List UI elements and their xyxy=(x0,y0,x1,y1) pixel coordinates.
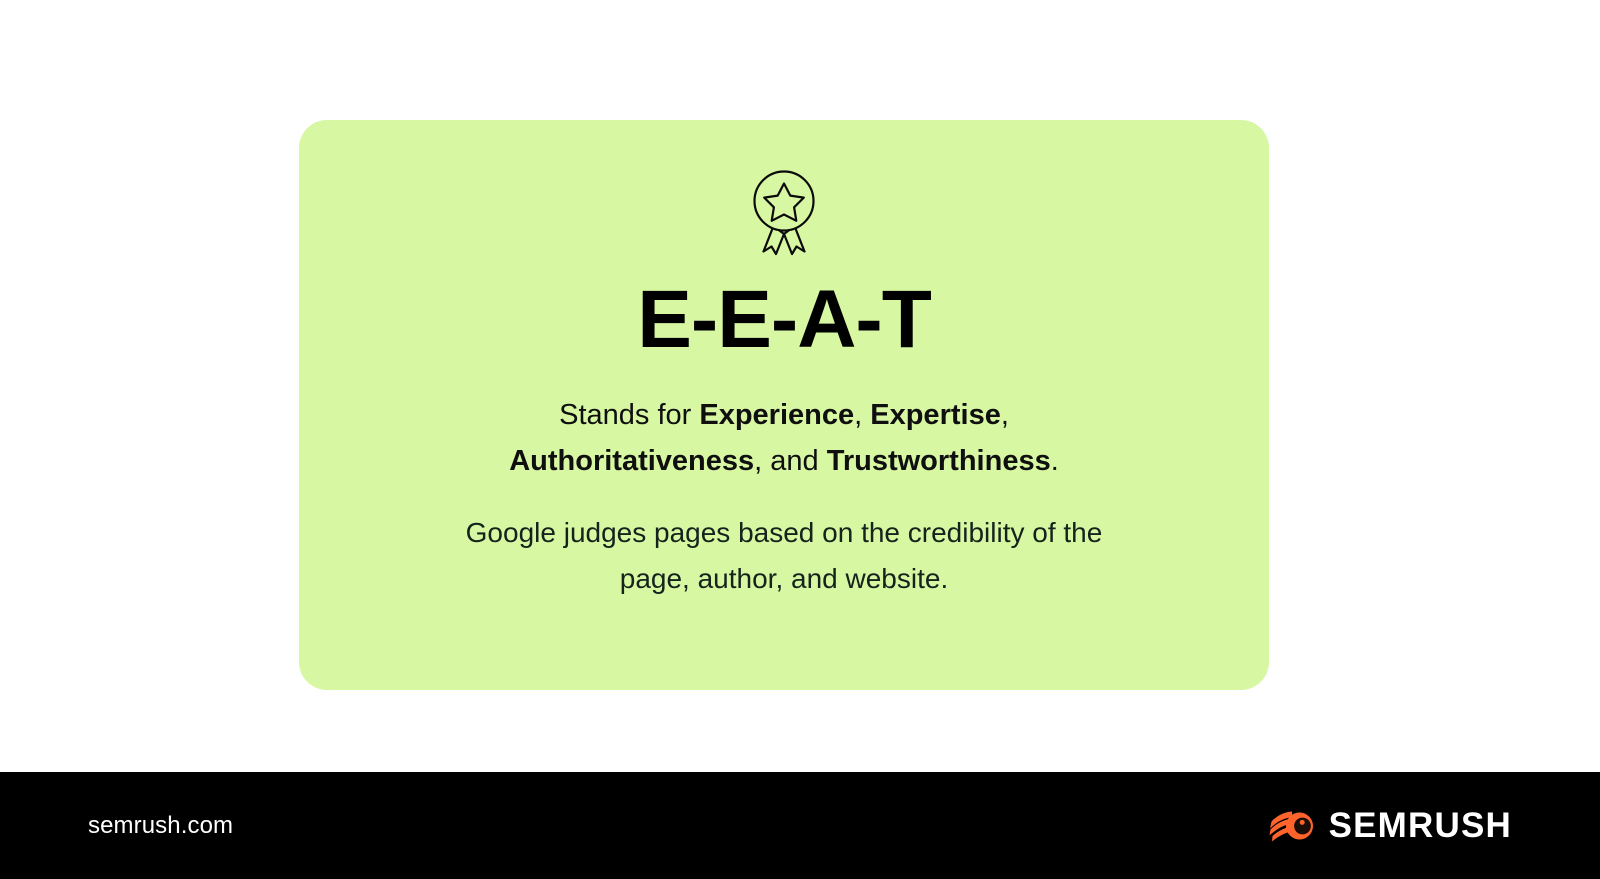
eeat-card: E-E-A-T Stands for Experience, Expertise… xyxy=(299,120,1269,690)
eeat-definition-text: Stands for Experience, Expertise, Author… xyxy=(434,392,1134,485)
page-title: E-E-A-T xyxy=(299,278,1269,362)
lead-prefix: Stands for xyxy=(559,399,699,431)
lead-sep-2: , xyxy=(1001,399,1009,431)
footer-bar: semrush.com SEMRUSH xyxy=(0,772,1600,879)
lead-sep-3: , and xyxy=(754,445,827,477)
semrush-comet-icon xyxy=(1269,809,1315,843)
term-expertise: Expertise xyxy=(870,399,1001,431)
lead-suffix: . xyxy=(1051,445,1059,477)
term-authoritativeness: Authoritativeness xyxy=(509,445,754,477)
semrush-logo: SEMRUSH xyxy=(1269,808,1512,843)
footer-url: semrush.com xyxy=(88,812,233,840)
eeat-description-text: Google judges pages based on the credibi… xyxy=(434,510,1134,601)
semrush-wordmark: SEMRUSH xyxy=(1329,808,1512,843)
term-experience: Experience xyxy=(699,399,854,431)
term-trustworthiness: Trustworthiness xyxy=(827,445,1051,477)
canvas: E-E-A-T Stands for Experience, Expertise… xyxy=(0,0,1600,772)
award-ribbon-icon xyxy=(743,168,825,256)
lead-sep-1: , xyxy=(854,399,870,431)
